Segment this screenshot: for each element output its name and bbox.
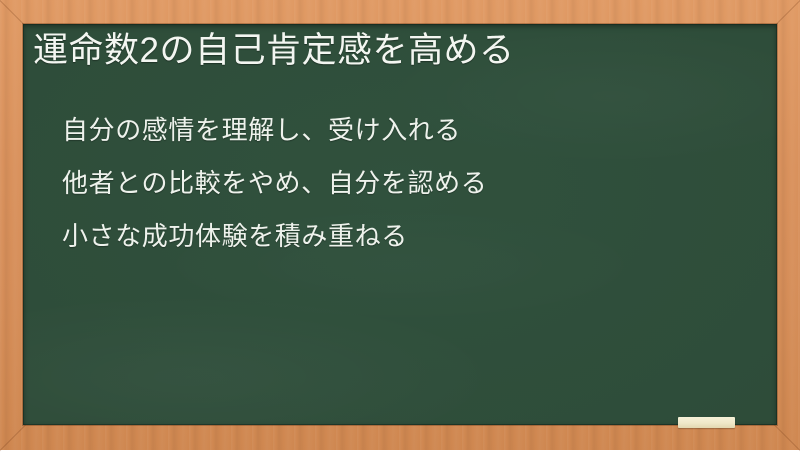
- board-line: 自分の感情を理解し、受け入れる: [62, 104, 762, 157]
- chalkboard-surface: 運命数2の自己肯定感を高める 自分の感情を理解し、受け入れる 他者との比較をやめ…: [23, 24, 777, 425]
- board-line: 小さな成功体験を積み重ねる: [62, 210, 762, 263]
- board-line: 他者との比較をやめ、自分を認める: [62, 157, 762, 210]
- chalkboard-scene: 運命数2の自己肯定感を高める 自分の感情を理解し、受け入れる 他者との比較をやめ…: [0, 0, 800, 450]
- board-title: 運命数2の自己肯定感を高める: [33, 30, 763, 72]
- board-line-list: 自分の感情を理解し、受け入れる 他者との比較をやめ、自分を認める 小さな成功体験…: [62, 104, 762, 263]
- chalk-stick: [678, 417, 735, 428]
